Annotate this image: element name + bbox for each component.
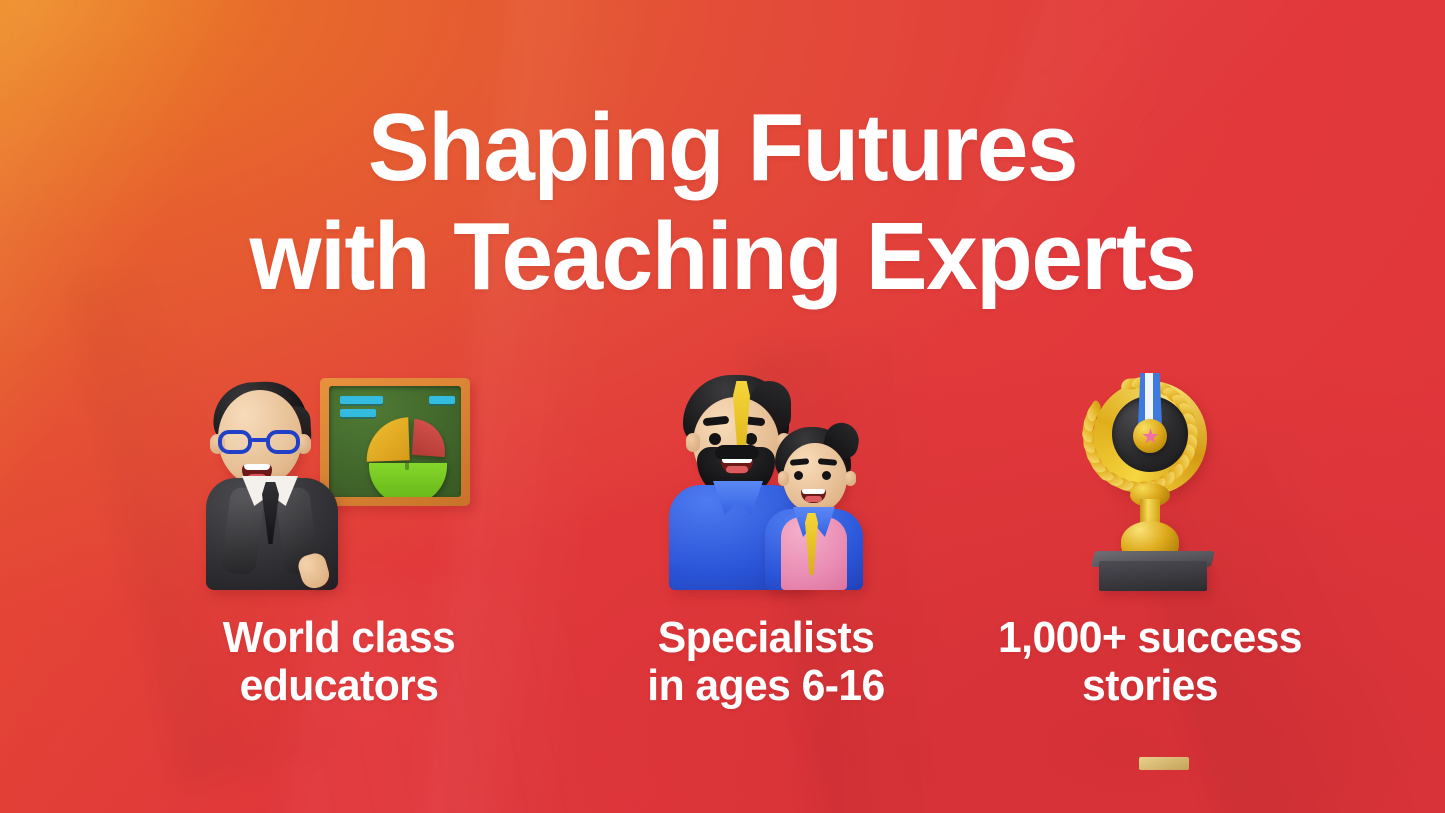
feature-row: World class educators [108, 360, 1338, 710]
feature-caption: World class educators [115, 614, 563, 710]
pie-slice-yellow [365, 417, 409, 461]
chalkboard [320, 378, 470, 506]
feature-illustration-wrap [108, 360, 570, 590]
child-eye [822, 471, 831, 480]
glasses-lens [218, 430, 252, 454]
trophy-nameplate [1139, 757, 1189, 770]
chalk-text-bar [429, 396, 455, 404]
feature-specialists-in-ages: Specialists in ages 6-16 [570, 360, 962, 710]
pie-chart-graphic [363, 416, 449, 497]
medal-ribbon [1138, 373, 1162, 425]
feature-caption: 1,000+ success stories [968, 614, 1333, 710]
pie-slice-red [412, 419, 447, 457]
slide-canvas: Shaping Futures with Teaching Experts [0, 0, 1445, 813]
glasses-lens [266, 430, 300, 454]
child-ear [778, 471, 789, 486]
chalkboard-surface [329, 386, 461, 497]
glasses-bridge [251, 438, 268, 442]
feature-illustration-wrap [962, 360, 1338, 590]
child-eye [794, 471, 803, 480]
feature-caption: Specialists in ages 6-16 [576, 614, 956, 710]
adult-moustache [715, 445, 759, 459]
medal [1133, 419, 1167, 453]
feature-illustration-wrap [570, 360, 962, 590]
trophy-icon [1083, 375, 1217, 590]
feature-world-class-educators: World class educators [108, 360, 570, 710]
adult-ear [686, 433, 700, 452]
chalk-text-bar [340, 396, 383, 404]
page-title: Shaping Futures with Teaching Experts [25, 93, 1419, 311]
pie-slice-green [369, 463, 447, 497]
glasses-icon [216, 430, 304, 454]
feature-success-stories: 1,000+ success stories [962, 360, 1338, 710]
child-figure [769, 427, 859, 590]
adult-collar [713, 481, 763, 515]
star-icon [1142, 428, 1159, 445]
necktie [262, 482, 279, 544]
trophy-base [1099, 561, 1207, 591]
adult-eye [709, 433, 721, 445]
two-people-icon [673, 375, 859, 590]
child-ear [845, 471, 856, 486]
teacher-chalkboard-icon [208, 378, 470, 590]
